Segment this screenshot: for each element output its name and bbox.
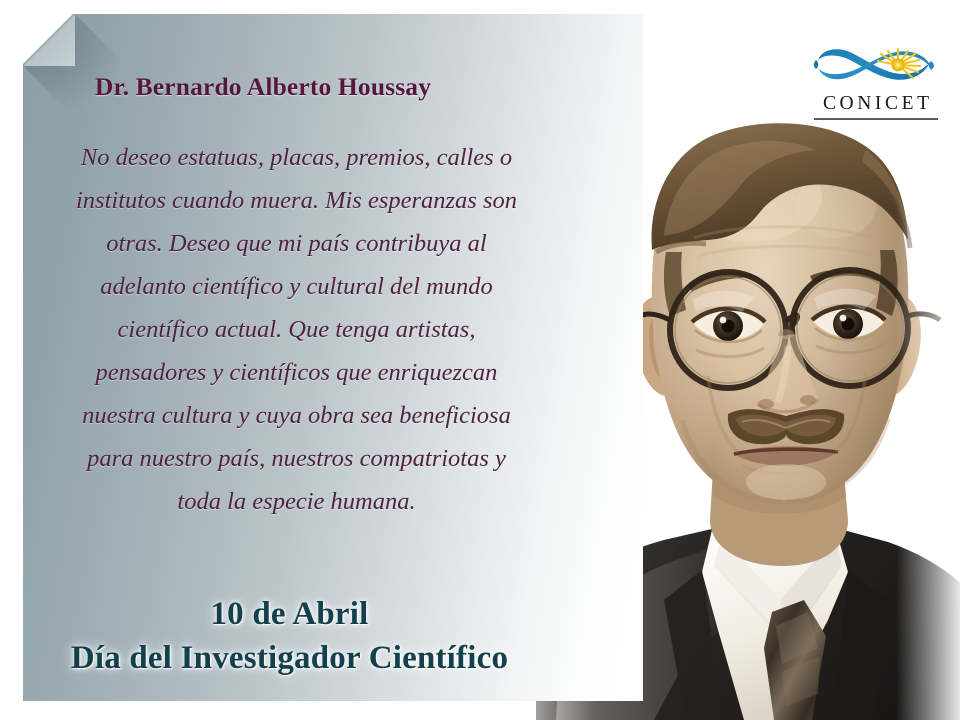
slide-canvas: Dr. Bernardo Alberto Houssay No deseo es…	[0, 0, 960, 720]
conicet-underline-rule	[814, 118, 938, 120]
quote-text: No deseo estatuas, placas, premios, call…	[59, 136, 534, 523]
quote-card-content: Dr. Bernardo Alberto Houssay No deseo es…	[23, 14, 643, 701]
quote-line: otras. Deseo que mi país contribuya al	[59, 222, 534, 265]
headline-block: 10 de Abril Día del Investigador Científ…	[23, 593, 556, 681]
quote-line: pensadores y científicos que enriquezcan	[59, 351, 534, 394]
headline-date: 10 de Abril	[23, 593, 556, 635]
quote-line: toda la especie humana.	[59, 480, 534, 523]
quote-line: No deseo estatuas, placas, premios, call…	[59, 136, 534, 179]
quote-line: institutos cuando muera. Mis esperanzas …	[59, 179, 534, 222]
headline-title: Día del Investigador Científico	[23, 635, 556, 681]
quote-line: adelanto científico y cultural del mundo	[59, 265, 534, 308]
quote-line: nuestra cultura y cuya obra sea benefici…	[59, 394, 534, 437]
quote-line: científico actual. Que tenga artistas,	[59, 308, 534, 351]
conicet-logo[interactable]: CONICET	[800, 40, 952, 132]
page-title: Dr. Bernardo Alberto Houssay	[23, 72, 503, 102]
conicet-wordmark: CONICET	[800, 93, 952, 115]
conicet-infinity-ribbon-sun-icon	[812, 40, 940, 92]
quote-line: para nuestro país, nuestros compatriotas…	[59, 437, 534, 480]
